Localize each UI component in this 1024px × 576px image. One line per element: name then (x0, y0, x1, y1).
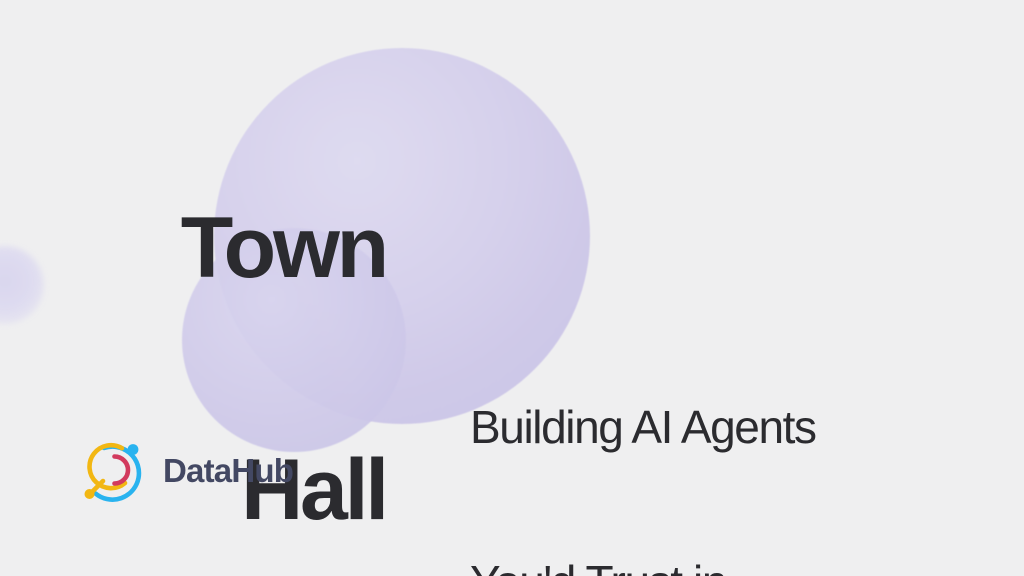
slide-subtitle: Building AI Agents You'd Trust in Produc… (470, 299, 1000, 576)
datahub-logo-icon (78, 434, 150, 506)
subtitle-line-1: Building AI Agents (470, 402, 1000, 454)
presentation-slide: Town Hall Recap: Building AI Agents You'… (0, 0, 1024, 576)
subtitle-line-2: You'd Trust in (470, 557, 1000, 576)
datahub-logo: DataHub (78, 434, 293, 506)
datahub-wordmark: DataHub (163, 454, 293, 487)
headline-line-1: Town (0, 208, 386, 289)
